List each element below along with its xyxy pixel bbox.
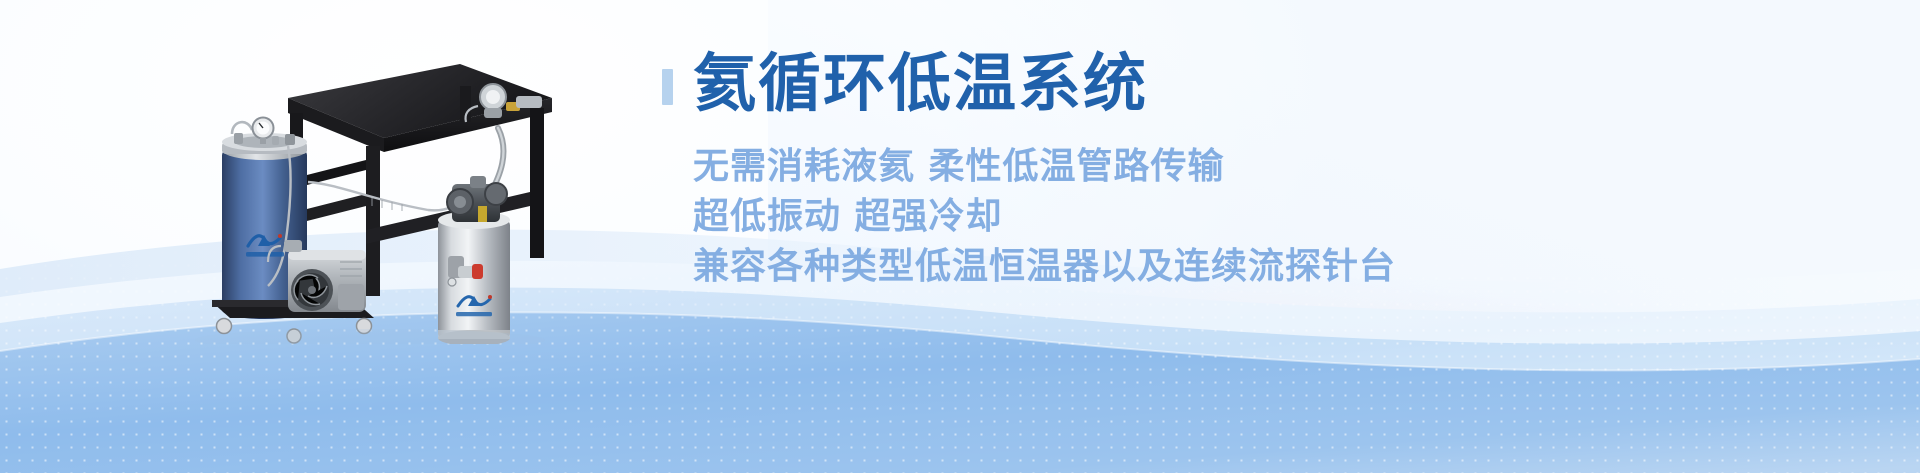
page-title: 氦循环低温系统 — [693, 52, 1148, 116]
accent-bar — [662, 69, 673, 105]
subtitle-line-3: 兼容各种类型低温恒温器以及连续流探针台 — [693, 242, 1842, 292]
silver-cryostat — [438, 176, 510, 344]
caster-wheel — [217, 319, 232, 334]
product-image — [160, 34, 580, 344]
cryocooler-head — [447, 176, 507, 222]
banner-copy: 氦循环低温系统 无需消耗液氦 柔性低温管路传输 超低振动 超强冷却 兼容各种类型… — [662, 52, 1842, 352]
subtitle-list: 无需消耗液氦 柔性低温管路传输 超低振动 超强冷却 兼容各种类型低温恒温器以及连… — [693, 142, 1842, 292]
subtitle-line-2: 超低振动 超强冷却 — [693, 192, 1842, 242]
title-row: 氦循环低温系统 — [662, 52, 1842, 116]
subtitle-line-1: 无需消耗液氦 柔性低温管路传输 — [693, 142, 1842, 192]
red-valve-handle — [472, 264, 483, 279]
hero-banner: 氦循环低温系统 无需消耗液氦 柔性低温管路传输 超低振动 超强冷却 兼容各种类型… — [0, 0, 1920, 473]
